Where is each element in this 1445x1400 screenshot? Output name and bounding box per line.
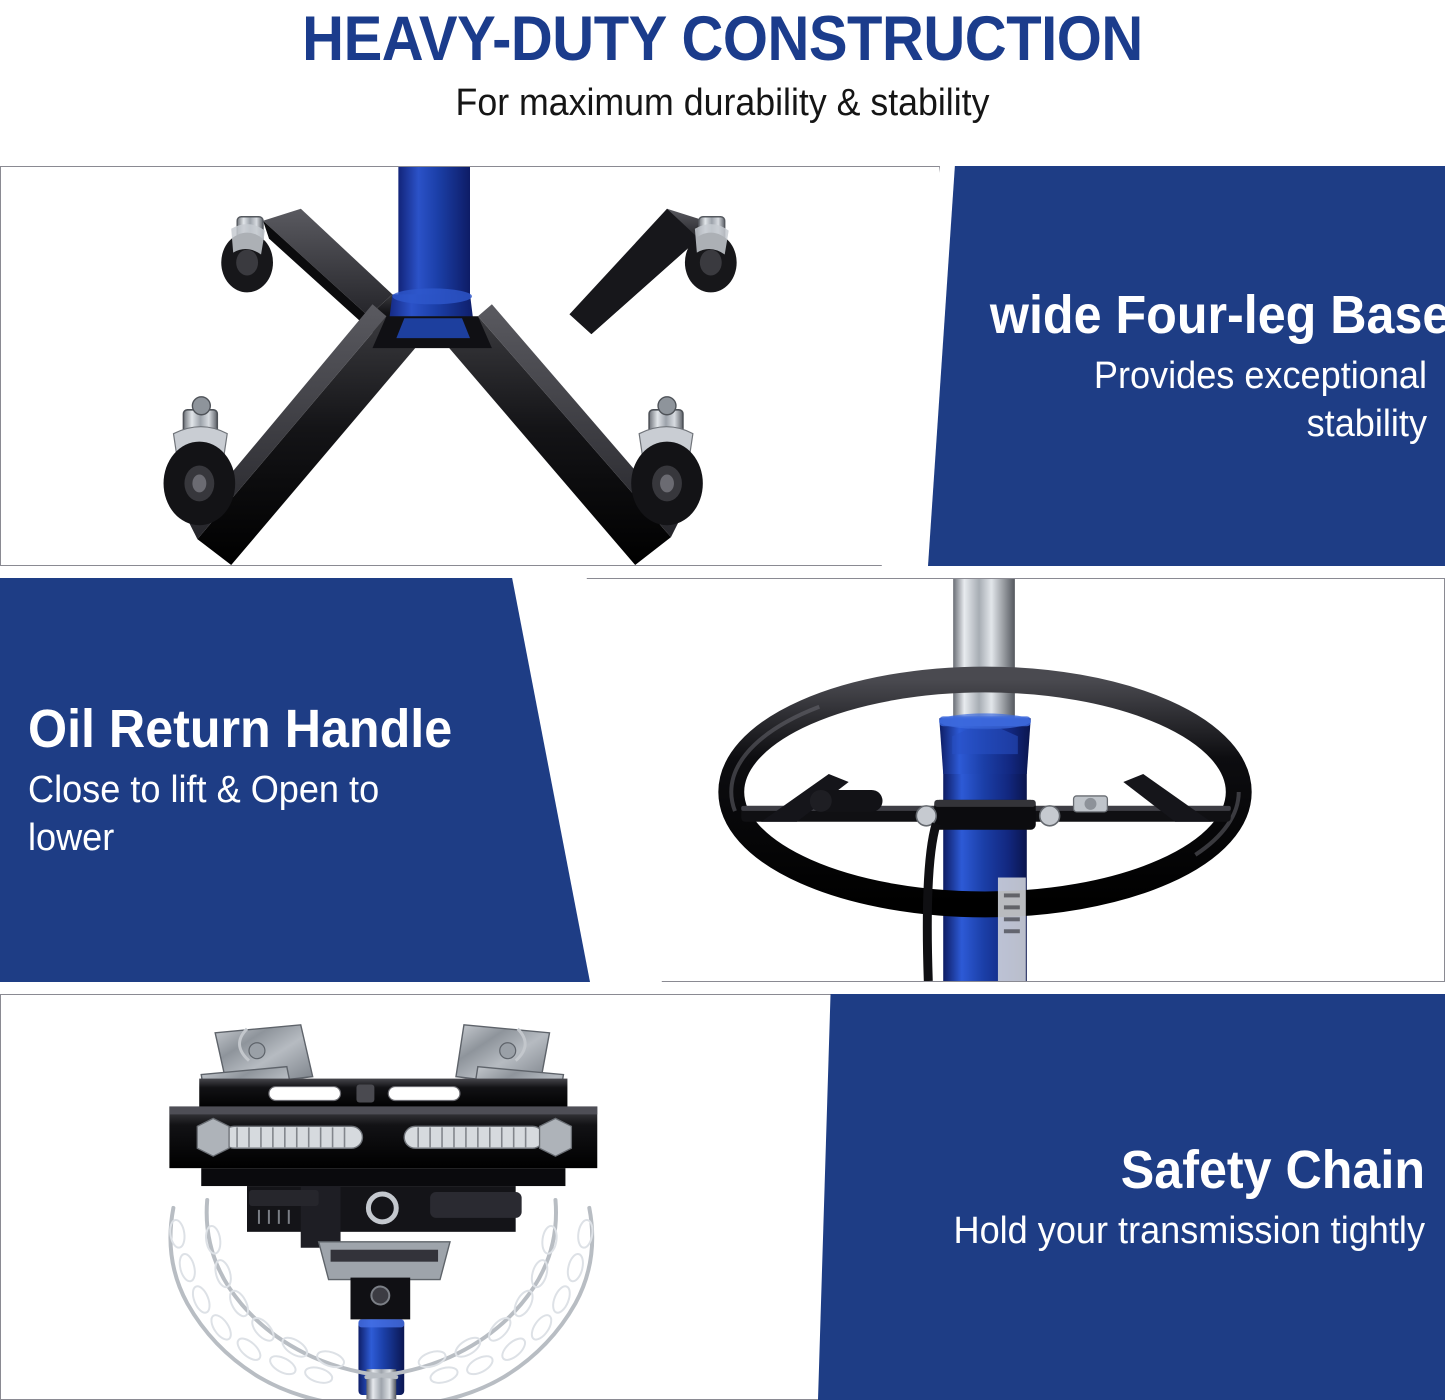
feature-subtitle-safety-chain: Hold your transmission tightly <box>950 1207 1425 1255</box>
page-title: HEAVY-DUTY CONSTRUCTION <box>58 0 1387 74</box>
page-subtitle: For maximum durability & stability <box>43 74 1401 126</box>
feature-title-safety-chain: Safety Chain <box>960 1139 1425 1201</box>
caption-panel-four-leg-base: wide Four-leg Base Provides exceptional … <box>928 166 1445 566</box>
feature-row-four-leg-base: wide Four-leg Base Provides exceptional … <box>0 166 1445 566</box>
feature-row-safety-chain: Safety Chain Hold your transmission tigh… <box>0 994 1445 1400</box>
caption-panel-oil-return-handle: Oil Return Handle Close to lift & Open t… <box>0 578 590 982</box>
header: HEAVY-DUTY CONSTRUCTION For maximum dura… <box>0 0 1445 162</box>
safety-chain-illustration <box>1 995 899 1399</box>
caption-text-safety-chain: Safety Chain Hold your transmission tigh… <box>925 994 1425 1400</box>
photo-panel-four-leg-base <box>0 166 940 566</box>
photo-panel-oil-return-handle <box>528 578 1445 982</box>
oil-return-handle-illustration <box>529 579 1444 981</box>
caption-text-four-leg-base: wide Four-leg Base Provides exceptional … <box>957 166 1427 566</box>
four-leg-base-illustration <box>1 167 939 565</box>
feature-row-oil-return-handle: Oil Return Handle Close to lift & Open t… <box>0 578 1445 982</box>
feature-subtitle-four-leg-base: Provides exceptional stability <box>981 352 1428 448</box>
feature-title-oil-return-handle: Oil Return Handle <box>28 698 465 760</box>
caption-text-oil-return-handle: Oil Return Handle Close to lift & Open t… <box>28 578 498 982</box>
photo-panel-safety-chain <box>0 994 900 1400</box>
feature-subtitle-oil-return-handle: Close to lift & Open to lower <box>28 766 475 862</box>
caption-panel-safety-chain: Safety Chain Hold your transmission tigh… <box>818 994 1445 1400</box>
feature-title-four-leg-base: wide Four-leg Base <box>990 284 1427 346</box>
infographic-page: HEAVY-DUTY CONSTRUCTION For maximum dura… <box>0 0 1445 1400</box>
